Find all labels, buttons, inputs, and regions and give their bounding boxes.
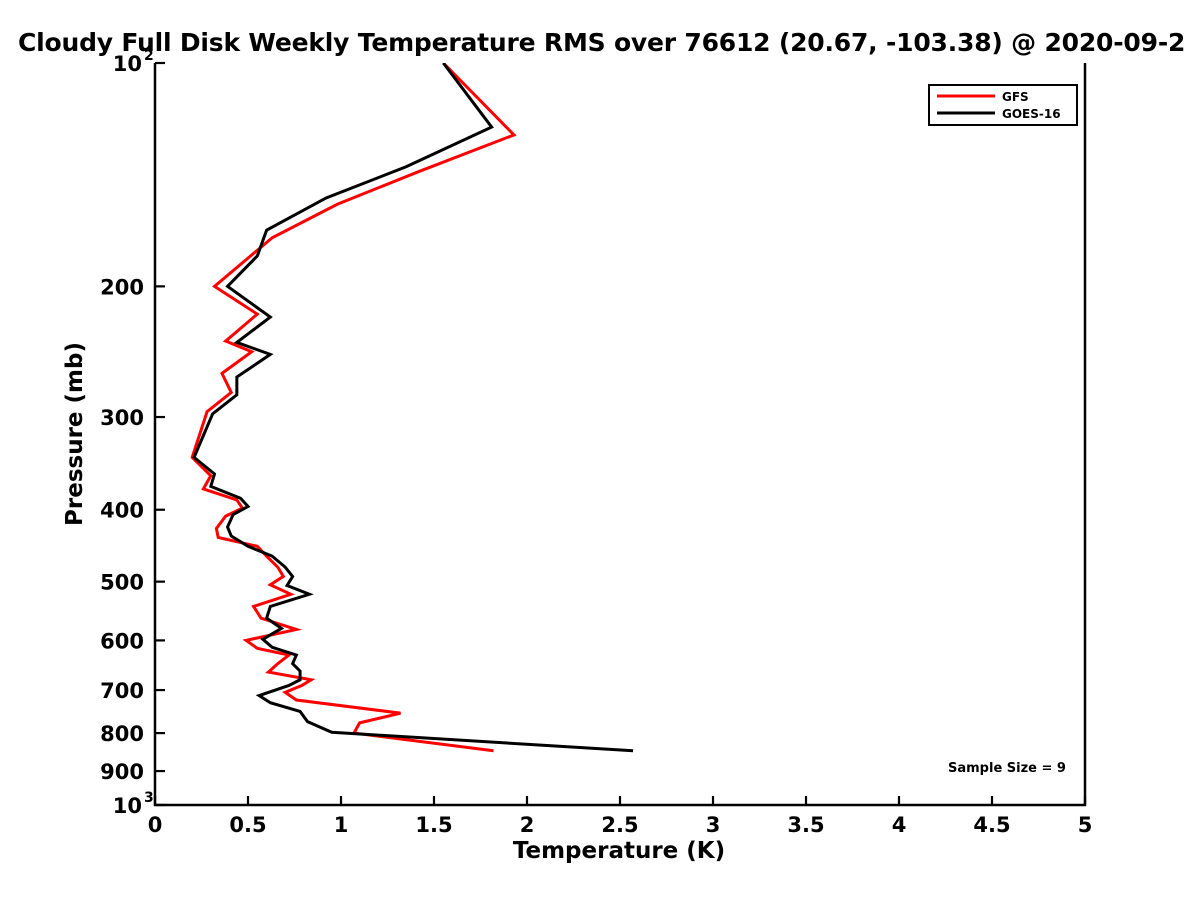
legend-label-goes-16: GOES-16 xyxy=(1002,107,1061,121)
x-tick-label: 3 xyxy=(706,813,721,837)
svg-text:500: 500 xyxy=(100,571,144,595)
svg-text:900: 900 xyxy=(100,760,144,784)
svg-text:300: 300 xyxy=(100,406,144,430)
legend[interactable]: GFSGOES-16 xyxy=(929,85,1077,125)
svg-text:2: 2 xyxy=(144,48,154,64)
x-tick-label: 3.5 xyxy=(787,813,824,837)
x-tick-label: 1 xyxy=(334,813,349,837)
y-tick-label: 102 xyxy=(113,48,154,76)
x-tick-label: 1.5 xyxy=(415,813,452,837)
axis-group: 00.511.522.533.544.551022003004005006007… xyxy=(100,48,1092,837)
y-tick-label: 300 xyxy=(100,406,144,430)
y-tick-label: 700 xyxy=(100,679,144,703)
y-axis-title: Pressure (mb) xyxy=(62,342,88,526)
x-axis-title: Temperature (K) xyxy=(513,838,725,864)
y-tick-label: 900 xyxy=(100,760,144,784)
svg-text:200: 200 xyxy=(100,275,144,299)
chart-figure: Cloudy Full Disk Weekly Temperature RMS … xyxy=(0,0,1200,900)
x-tick-label: 2 xyxy=(520,813,535,837)
svg-text:600: 600 xyxy=(100,629,144,653)
svg-text:400: 400 xyxy=(100,499,144,523)
x-tick-label: 4 xyxy=(892,813,907,837)
y-tick-label: 800 xyxy=(100,722,144,746)
y-tick-label: 200 xyxy=(100,275,144,299)
y-tick-label: 500 xyxy=(100,571,144,595)
legend-label-gfs: GFS xyxy=(1002,90,1029,104)
data-series-group xyxy=(192,63,633,751)
x-tick-label: 0 xyxy=(148,813,163,837)
svg-text:10: 10 xyxy=(113,52,142,76)
svg-text:10: 10 xyxy=(113,794,142,818)
axis-frame xyxy=(155,63,1085,805)
svg-text:700: 700 xyxy=(100,679,144,703)
svg-text:3: 3 xyxy=(144,790,154,806)
y-tick-label: 400 xyxy=(100,499,144,523)
y-tick-label: 600 xyxy=(100,629,144,653)
svg-text:800: 800 xyxy=(100,722,144,746)
series-line-gfs xyxy=(192,63,514,751)
x-tick-label: 5 xyxy=(1078,813,1093,837)
x-tick-label: 2.5 xyxy=(601,813,638,837)
x-tick-label: 4.5 xyxy=(973,813,1010,837)
x-tick-label: 0.5 xyxy=(229,813,266,837)
sample-size-annotation: Sample Size = 9 xyxy=(948,761,1066,776)
plot-canvas: 00.511.522.533.544.551022003004005006007… xyxy=(0,0,1200,900)
